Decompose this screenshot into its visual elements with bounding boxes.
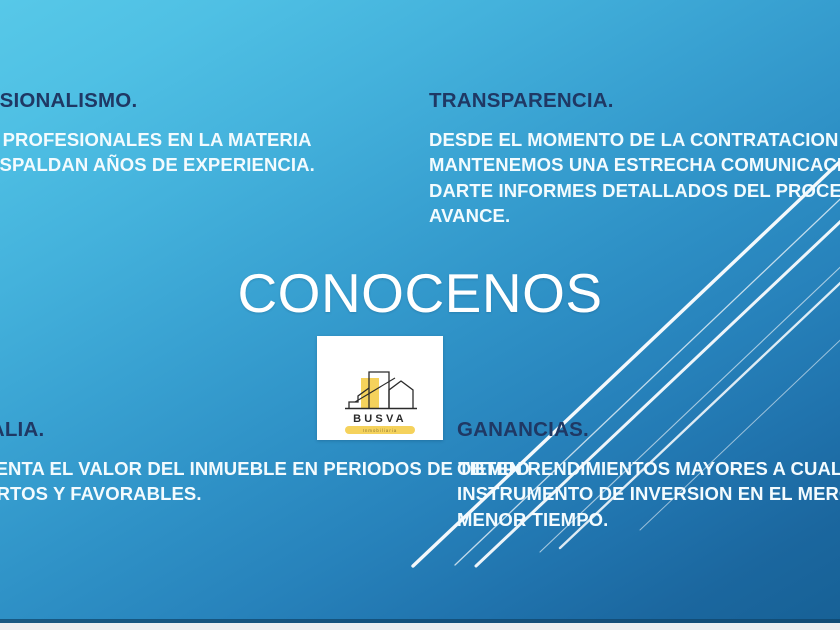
feature-body-line: INCREMENTA EL VALOR DEL INMUEBLE EN PERI… [0, 456, 530, 482]
feature-block-plusvalia: PLUSVALIA. INCREMENTA EL VALOR DEL INMUE… [0, 419, 530, 507]
feature-body-line: MENOR TIEMPO. [457, 507, 840, 533]
feature-body-transparencia: DESDE EL MOMENTO DE LA CONTRATACION MANT… [429, 127, 840, 229]
feature-body-ganancias: OBTEN RENDIMIENTOS MAYORES A CUALQUIER I… [457, 456, 840, 533]
feature-block-ganancias: GANANCIAS. OBTEN RENDIMIENTOS MAYORES A … [457, 419, 840, 532]
feature-heading-profesionalismo: PROFESIONALISMO. [0, 90, 315, 113]
feature-block-transparencia: TRANSPARENCIA. DESDE EL MOMENTO DE LA CO… [429, 90, 840, 229]
feature-body-profesionalismo: SOMOS PROFESIONALES EN LA MATERIA QUE RE… [0, 127, 315, 178]
feature-body-line: SOMOS PROFESIONALES EN LA MATERIA [0, 127, 315, 153]
feature-heading-transparencia: TRANSPARENCIA. [429, 90, 840, 113]
feature-body-line: AVANCE. [429, 203, 840, 229]
feature-body-plusvalia: INCREMENTA EL VALOR DEL INMUEBLE EN PERI… [0, 456, 530, 507]
slide-footer-strip [0, 623, 840, 630]
feature-body-line: MANTENEMOS UNA ESTRECHA COMUNICACION PAR… [429, 152, 840, 178]
feature-body-line: DESDE EL MOMENTO DE LA CONTRATACION [429, 127, 840, 153]
feature-heading-ganancias: GANANCIAS. [457, 419, 840, 442]
feature-body-line: QUE RESPALDAN AÑOS DE EXPERIENCIA. [0, 152, 315, 178]
feature-block-profesionalismo: PROFESIONALISMO. SOMOS PROFESIONALES EN … [0, 90, 315, 178]
presentation-slide: PROFESIONALISMO. SOMOS PROFESIONALES EN … [0, 0, 840, 630]
feature-body-line: INSTRUMENTO DE INVERSION EN EL MERCADO E… [457, 481, 840, 507]
feature-heading-plusvalia: PLUSVALIA. [0, 419, 530, 442]
feature-body-line: MAS CORTOS Y FAVORABLES. [0, 481, 530, 507]
feature-body-line: OBTEN RENDIMIENTOS MAYORES A CUALQUIER [457, 456, 840, 482]
feature-body-line: DARTE INFORMES DETALLADOS DEL PROCESO Y … [429, 178, 840, 204]
slide-title: CONOCENOS [0, 266, 840, 321]
